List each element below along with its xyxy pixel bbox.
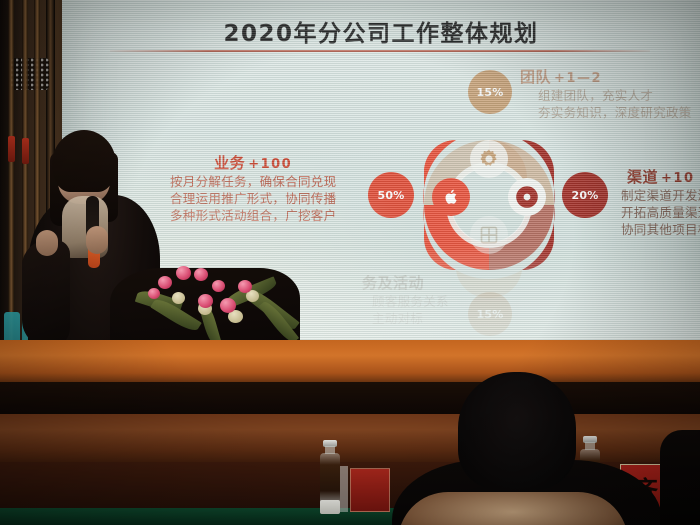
presenter-hair	[52, 130, 116, 192]
title-underline	[110, 50, 650, 52]
water-bottle	[318, 440, 342, 516]
presenter-hand	[36, 230, 58, 256]
rose	[194, 268, 208, 281]
block-line: 合理运用推广形式，协同传播	[170, 190, 336, 207]
block-line: 协同其他项目板块共生	[621, 221, 700, 238]
percent-badge-bottom: 15%	[468, 292, 512, 336]
block-line: 多种形式活动组合，广挖客户	[170, 207, 336, 224]
block-heading-business: 业务+100	[170, 152, 336, 173]
pinwheel-infographic: 50% 20% 15% 15%	[396, 112, 582, 298]
block-heading-channel: 渠道+10	[621, 166, 700, 187]
bottle-body	[320, 453, 340, 507]
percent-badge-right: 20%	[562, 172, 608, 218]
block-heading-bottom: 务及活动	[362, 272, 449, 293]
grid-icon	[470, 216, 508, 254]
aperture-icon	[508, 178, 546, 216]
block-line: 主动对标	[362, 310, 449, 327]
flower-arrangement	[128, 256, 308, 346]
block-line: 顾客服务关系	[362, 293, 449, 310]
nameplate-blank	[350, 468, 390, 512]
pole-cap	[22, 138, 29, 164]
apple-icon	[432, 178, 470, 216]
slide-title: 2020年分公司工作整体规划	[62, 14, 700, 48]
wall-emblem-icon	[11, 58, 49, 90]
rose	[158, 276, 172, 289]
percent-badge-top: 15%	[468, 70, 512, 114]
slide-block-team: 团队+1—2 组建团队，充实人才 夯实务知识，深度研究政策	[520, 66, 692, 121]
attendee-arm	[660, 430, 700, 525]
block-line: 夯实务知识，深度研究政策	[520, 104, 692, 121]
presenter-arm	[22, 240, 70, 348]
block-line: 组建团队，充实人才	[520, 87, 692, 104]
rose	[198, 294, 213, 308]
block-heading-team: 团队+1—2	[520, 66, 692, 87]
block-line: 按月分解任务，确保合同兑现	[170, 173, 336, 190]
filler-bud	[172, 292, 185, 304]
slide-block-channel: 渠道+10 制定渠道开发激励政策 开拓高质量渠道商 协同其他项目板块共生	[621, 166, 700, 238]
gear-icon	[470, 140, 508, 178]
block-line: 开拓高质量渠道商	[621, 204, 700, 221]
percent-badge-left: 50%	[368, 172, 414, 218]
slide-block-bottom: 务及活动 顾客服务关系 主动对标	[362, 272, 449, 327]
rose	[148, 288, 160, 299]
attendee-head	[458, 372, 576, 490]
foreground-blur	[398, 492, 628, 525]
conference-photo: 2020年分公司工作整体规划 业务+100 按月分解任务，确保合同兑现 合理运用…	[0, 0, 700, 525]
rose	[238, 280, 252, 293]
rose	[220, 298, 236, 313]
bottle-label	[320, 500, 340, 514]
slide-block-business: 业务+100 按月分解任务，确保合同兑现 合理运用推广形式，协同传播 多种形式活…	[170, 152, 336, 224]
rose	[176, 266, 191, 280]
pole-cap	[8, 136, 15, 162]
rose	[212, 280, 225, 292]
presenter-hand	[86, 226, 108, 254]
block-line: 制定渠道开发激励政策	[621, 187, 700, 204]
